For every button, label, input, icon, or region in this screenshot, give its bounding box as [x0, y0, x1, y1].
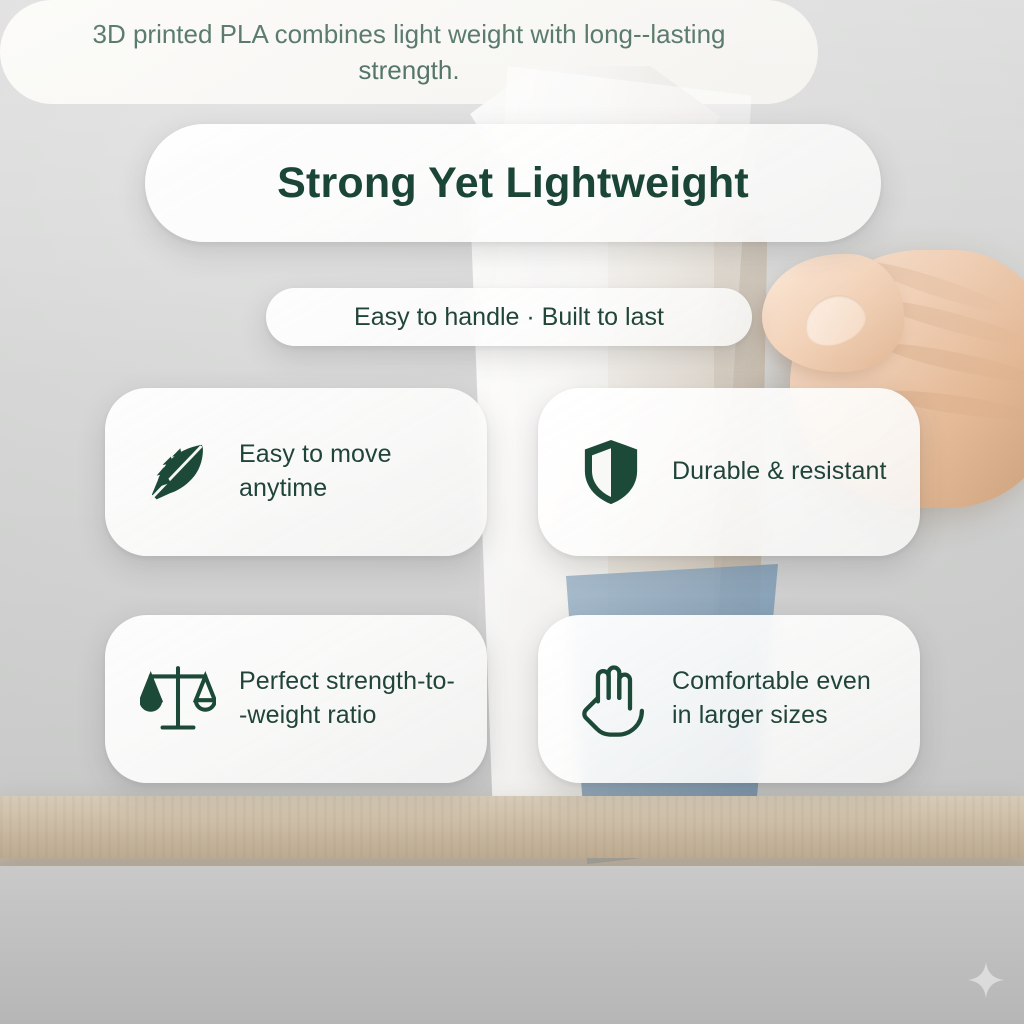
feature-card-easy-to-move: Easy to move anytime — [105, 388, 487, 556]
hand-icon — [572, 660, 650, 738]
title-pill: Strong Yet Lightweight — [145, 124, 881, 242]
footer-banner: 3D printed PLA combines light weight wit… — [0, 0, 818, 104]
feature-label: Easy to move anytime — [239, 438, 461, 506]
shield-icon — [572, 433, 650, 511]
feature-card-comfortable: Comfortable even in larger sizes — [538, 615, 920, 783]
wooden-shelf — [0, 796, 1024, 858]
feature-label: Comfortable even in larger sizes — [672, 665, 894, 733]
feather-icon — [139, 433, 217, 511]
scales-icon — [139, 660, 217, 738]
footer-text: 3D printed PLA combines light weight wit… — [56, 16, 762, 89]
feature-card-strength-ratio: Perfect strength-to--weight ratio — [105, 615, 487, 783]
sparkle-icon — [964, 960, 1008, 1004]
feature-label: Durable & resistant — [672, 455, 887, 489]
subtitle-pill: Easy to handle · Built to last — [266, 288, 752, 346]
poster-canvas: Strong Yet Lightweight Easy to handle · … — [0, 0, 1024, 1024]
page-title: Strong Yet Lightweight — [277, 159, 749, 208]
feature-card-durable: Durable & resistant — [538, 388, 920, 556]
feature-label: Perfect strength-to--weight ratio — [239, 665, 461, 733]
floor-background — [0, 866, 1024, 1024]
page-subtitle: Easy to handle · Built to last — [354, 303, 664, 332]
